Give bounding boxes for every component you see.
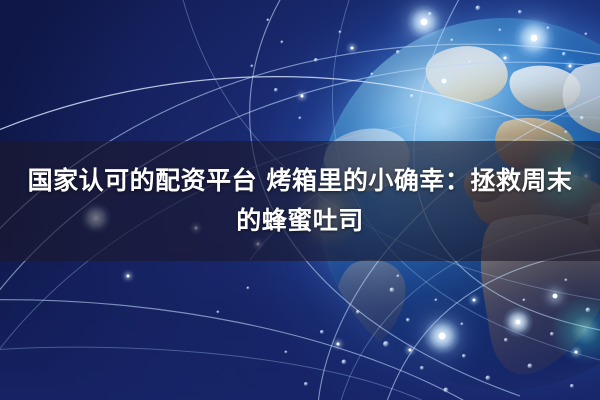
particle [523, 299, 526, 302]
particle [444, 388, 449, 393]
particle [406, 318, 410, 322]
particle [410, 94, 414, 98]
particle [570, 384, 574, 388]
particle [562, 52, 566, 56]
page-title-line-1: 国家认可的配资平台 烤箱里的小确幸：拯救周末 [28, 161, 573, 201]
particle [383, 341, 389, 347]
particle [342, 360, 347, 365]
particle [565, 279, 568, 282]
particle [469, 61, 472, 64]
particle [504, 338, 508, 342]
page-title-line-2: 的蜂蜜吐司 [236, 201, 364, 241]
particle [281, 41, 284, 44]
particle [528, 364, 533, 369]
particle [476, 6, 481, 11]
particle [518, 10, 522, 14]
particle [217, 311, 220, 314]
particle [586, 308, 591, 313]
particle [356, 310, 360, 314]
particle [285, 351, 288, 354]
particle [396, 50, 400, 54]
particle [499, 29, 502, 32]
particle [314, 58, 318, 62]
particle [247, 287, 250, 290]
particle [304, 382, 308, 386]
particle [251, 65, 254, 68]
particle [371, 73, 374, 76]
particle [267, 19, 270, 22]
particle [486, 376, 491, 381]
banner-image: 国家认可的配资平台 烤箱里的小确幸：拯救周末 的蜂蜜吐司 [0, 0, 600, 400]
particle [580, 116, 584, 120]
particle [397, 275, 400, 278]
particle [420, 366, 424, 370]
particle [547, 27, 550, 30]
particle [428, 12, 432, 16]
particle [550, 332, 554, 336]
particle [585, 33, 588, 36]
particle [299, 117, 302, 120]
particle [274, 88, 278, 92]
particle [461, 323, 464, 326]
title-overlay-band: 国家认可的配资平台 烤箱里的小确幸：拯救周末 的蜂蜜吐司 [0, 141, 600, 261]
particle [339, 31, 342, 34]
particle [565, 131, 568, 134]
particle [451, 39, 454, 42]
particle [390, 288, 395, 293]
particle [462, 354, 466, 358]
particle [435, 299, 438, 302]
particle [320, 330, 324, 334]
